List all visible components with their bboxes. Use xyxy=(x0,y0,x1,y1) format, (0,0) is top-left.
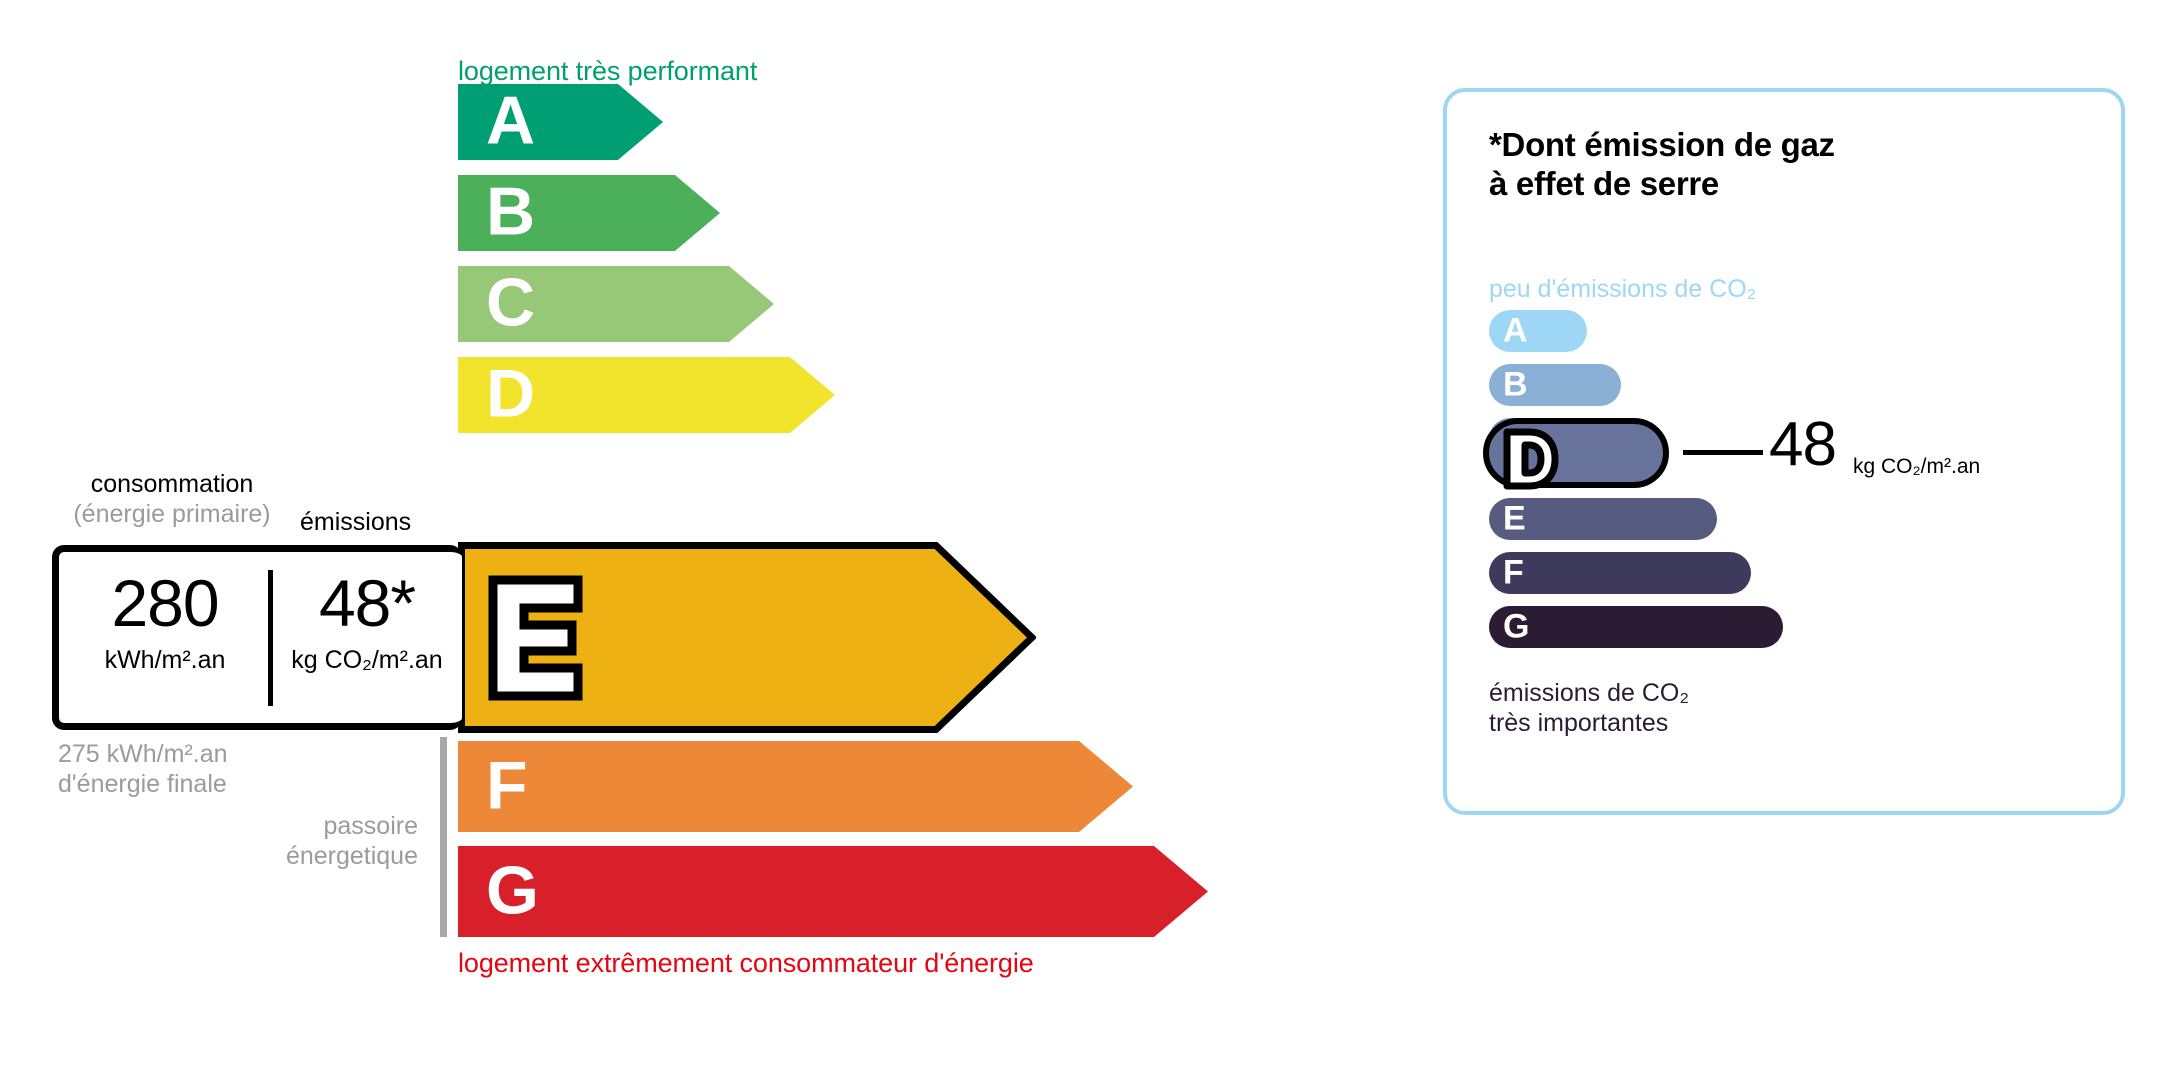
energy-band-d-letter: D xyxy=(486,360,535,428)
consommation-label: consommation (énergie primaire) xyxy=(58,470,286,529)
energy-band-f: F xyxy=(458,741,1133,832)
band-e-letter-outline xyxy=(488,575,583,701)
value-box: 280 kWh/m².an 48* kg CO₂/m².an xyxy=(52,545,462,730)
co2-band-f: F xyxy=(1489,552,1751,594)
co2-title-line2: à effet de serre xyxy=(1489,165,1835,204)
co2-band-f-letter: F xyxy=(1503,555,1524,589)
co2-value-unit: kg CO₂/m².an xyxy=(1853,455,1980,479)
co2-band-a-letter: A xyxy=(1503,313,1528,347)
band-g-shape xyxy=(458,846,1208,937)
co2-value-connector-line xyxy=(1683,450,1763,455)
consommation-label-sub: (énergie primaire) xyxy=(58,500,286,530)
energy-band-c-letter: C xyxy=(486,269,535,337)
co2-top-caption: peu d'émissions de CO₂ xyxy=(1489,275,1756,304)
energy-bottom-caption: logement extrêmement consommateur d'éner… xyxy=(458,948,1034,979)
energy-band-c: C xyxy=(458,266,774,342)
emission-value: 48* xyxy=(277,570,457,636)
energy-band-g: G xyxy=(458,846,1208,937)
co2-band-g: G xyxy=(1489,606,1783,648)
emission-value-cell: 48* kg CO₂/m².an xyxy=(277,570,457,675)
passoire-energetique-label: passoire énergetique xyxy=(150,812,418,871)
co2-panel-title: *Dont émission de gaz à effet de serre xyxy=(1489,126,1835,204)
value-box-divider xyxy=(268,570,273,706)
co2-band-a: A xyxy=(1489,310,1587,352)
final-energy-line1: 275 kWh/m².an xyxy=(58,740,228,770)
co2-value: 48 xyxy=(1769,414,1836,476)
energy-band-f-letter: F xyxy=(486,751,528,819)
energy-band-b: B xyxy=(458,175,720,251)
co2-band-b-letter: B xyxy=(1503,367,1528,401)
final-energy-line2: d'énergie finale xyxy=(58,770,228,800)
energy-performance-diagram: logement très performant A B C xyxy=(0,0,1330,1079)
co2-band-e: E xyxy=(1489,498,1717,540)
passoire-label-line2: énergetique xyxy=(150,842,418,872)
energy-band-g-letter: G xyxy=(486,856,539,924)
consumption-value: 280 xyxy=(59,570,271,636)
co2-emissions-panel: *Dont émission de gaz à effet de serre p… xyxy=(1443,88,2125,815)
energy-band-a: A xyxy=(458,84,663,160)
co2-bottom-caption: émissions de CO₂ très importantes xyxy=(1489,679,1689,738)
co2-band-d-current: D xyxy=(1483,418,1669,488)
emission-unit: kg CO₂/m².an xyxy=(277,646,457,675)
co2-bottom-caption-line1: émissions de CO₂ xyxy=(1489,679,1689,709)
co2-band-b: B xyxy=(1489,364,1621,406)
passoire-vertical-rule xyxy=(440,737,447,937)
co2-band-e-letter: E xyxy=(1503,501,1526,535)
energy-band-d: D xyxy=(458,357,835,433)
final-energy-note: 275 kWh/m².an d'énergie finale xyxy=(58,740,228,799)
energy-band-e-current: E xyxy=(458,542,1036,733)
energy-band-b-letter: B xyxy=(486,178,535,246)
energy-band-a-letter: A xyxy=(486,87,535,155)
co2-bottom-caption-line2: très importantes xyxy=(1489,709,1689,739)
co2-band-d-letter-outline xyxy=(1503,428,1559,490)
emissions-label: émissions xyxy=(300,508,411,537)
dpe-screenshot: logement très performant A B C xyxy=(0,0,2169,1079)
band-f-shape xyxy=(458,741,1133,832)
consommation-label-main: consommation xyxy=(91,470,254,498)
co2-band-g-letter: G xyxy=(1503,609,1529,643)
co2-title-line1: *Dont émission de gaz xyxy=(1489,126,1835,165)
consumption-unit: kWh/m².an xyxy=(59,646,271,675)
consumption-value-cell: 280 kWh/m².an xyxy=(59,570,271,675)
passoire-label-line1: passoire xyxy=(150,812,418,842)
